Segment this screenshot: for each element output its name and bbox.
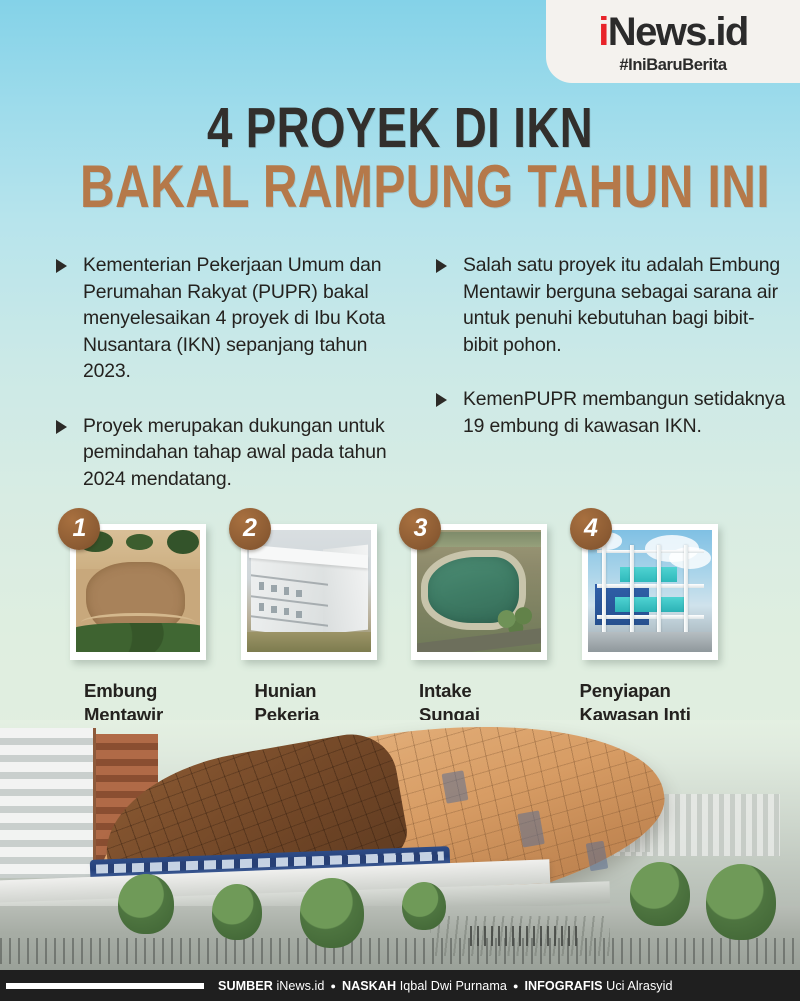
card-number-badge: 1	[58, 508, 100, 550]
bullet-item: Salah satu proyek itu adalah Embung Ment…	[436, 252, 788, 358]
tree	[212, 884, 262, 940]
tree	[630, 862, 690, 926]
bullet-text: Proyek merupakan dukungan untuk pemindah…	[83, 413, 388, 493]
brand-wordmark-i: i	[598, 10, 608, 54]
project-photo-wrap: 1	[70, 524, 206, 660]
bullet-text: KemenPUPR membangun setidaknya 19 embung…	[463, 386, 788, 439]
triangle-right-icon	[436, 259, 447, 273]
triangle-right-icon	[436, 393, 447, 407]
photo-intake-sungai-sepaku	[417, 530, 541, 652]
footer-credits-text: SUMBER iNews.id●NASKAH Iqbal Dwi Purnama…	[218, 979, 673, 993]
footer-designer-label: INFOGRAFIS	[524, 979, 602, 993]
footer-source-label: SUMBER	[218, 979, 273, 993]
tree	[402, 882, 446, 930]
bullet-item: Kementerian Pekerjaan Umum dan Perumahan…	[56, 252, 388, 385]
card-number-badge: 4	[570, 508, 612, 550]
building-left-tower	[0, 728, 96, 878]
title-line-1: 4 PROYEK DI IKN	[80, 102, 720, 156]
triangle-right-icon	[56, 420, 67, 434]
photo-art	[76, 530, 200, 652]
footer-divider-rule	[6, 983, 204, 989]
infographic-root: iNews.id #IniBaruBerita 4 PROYEK DI IKN …	[0, 0, 800, 1001]
footer-writer-label: NASKAH	[342, 979, 396, 993]
footer-source-value: iNews.id	[276, 979, 324, 993]
brand-logo-panel[interactable]: iNews.id #IniBaruBerita	[546, 0, 800, 83]
card-number: 2	[243, 516, 256, 541]
photo-embung-mentawir	[76, 530, 200, 652]
project-photo-wrap: 2	[241, 524, 377, 660]
footer-separator: ●	[330, 981, 336, 991]
footer-designer-value: Uci Alrasyid	[606, 979, 672, 993]
bullet-column-right: Salah satu proyek itu adalah Embung Ment…	[400, 252, 800, 520]
card-number: 4	[584, 516, 597, 541]
footer-credits-bar: SUMBER iNews.id●NASKAH Iqbal Dwi Purnama…	[0, 970, 800, 1001]
photo-art	[588, 530, 712, 652]
photo-art	[417, 530, 541, 652]
triangle-right-icon	[56, 259, 67, 273]
card-number: 3	[414, 516, 427, 541]
tree	[300, 878, 364, 948]
bullet-item: Proyek merupakan dukungan untuk pemindah…	[56, 413, 388, 493]
card-number-badge: 3	[399, 508, 441, 550]
bullet-text: Salah satu proyek itu adalah Embung Ment…	[463, 252, 788, 358]
brand-wordmark: iNews.id	[598, 12, 747, 52]
brand-wordmark-rest: News.id	[608, 10, 748, 54]
footer-writer-value: Iqbal Dwi Purnama	[400, 979, 507, 993]
project-photo-wrap: 3	[411, 524, 547, 660]
bullet-column-left: Kementerian Pekerjaan Umum dan Perumahan…	[0, 252, 400, 520]
card-number-badge: 2	[229, 508, 271, 550]
tree	[118, 874, 174, 934]
tree	[706, 864, 776, 940]
photo-penyiapan-kipp	[588, 530, 712, 652]
footer-separator: ●	[513, 981, 519, 991]
bullet-item: KemenPUPR membangun setidaknya 19 embung…	[436, 386, 788, 439]
photo-hunian-pekerja	[247, 530, 371, 652]
hero-ikn-station-image	[0, 720, 800, 970]
bullet-text: Kementerian Pekerjaan Umum dan Perumahan…	[83, 252, 388, 385]
title-line-2: BAKAL RAMPUNG TAHUN INI	[80, 159, 720, 215]
project-photo-wrap: 4	[582, 524, 718, 660]
photo-art	[247, 530, 371, 652]
card-number: 1	[73, 516, 86, 541]
foreground-fence	[0, 938, 800, 964]
bullet-section: Kementerian Pekerjaan Umum dan Perumahan…	[0, 252, 800, 520]
page-title: 4 PROYEK DI IKN BAKAL RAMPUNG TAHUN INI	[0, 102, 800, 215]
brand-hashtag: #IniBaruBerita	[619, 57, 726, 74]
